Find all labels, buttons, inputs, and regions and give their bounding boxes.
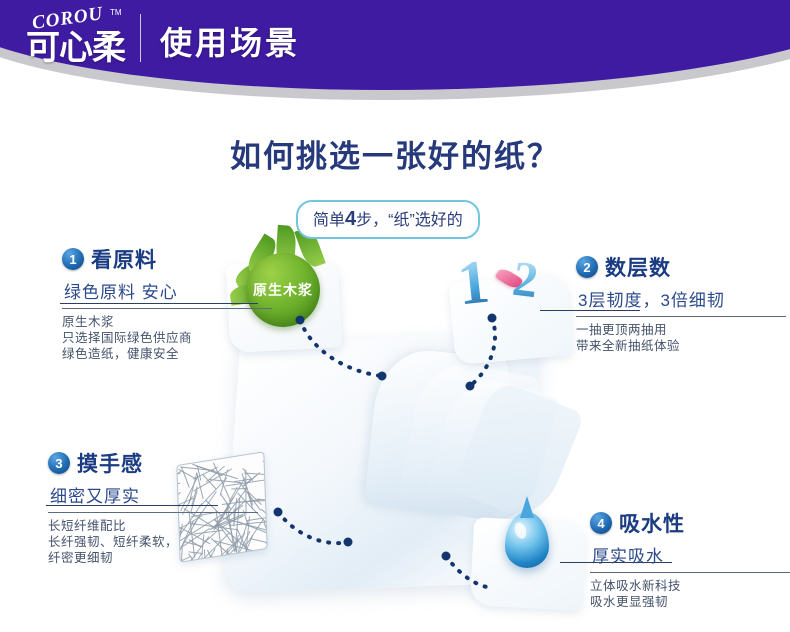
water-drop-icon — [505, 512, 549, 568]
tissue-sheet-right — [451, 378, 585, 525]
detail-line: 原生木浆 — [62, 314, 272, 330]
absorb-paper — [470, 517, 586, 611]
step-4-title: 吸水性 — [619, 508, 685, 538]
step-number-badge-2: 2 — [576, 256, 598, 278]
step-block-3: 3 摸手感 细密又厚实 长短纤维配比 长纤强韧、短纤柔软， 纤密更细韧 — [48, 448, 258, 566]
step-4-detail: 立体吸水新科技 吸水更显强韧 — [590, 578, 790, 610]
step-1-detail: 原生木浆 只选择国际绿色供应商 绿色造纸，健康安全 — [62, 314, 272, 362]
logo-chinese-text: 可心柔 — [26, 26, 125, 70]
pill-suffix: 步，“纸”选好的 — [356, 212, 463, 229]
step-number-badge-3: 3 — [48, 452, 70, 474]
step-2-subtitle: 3层韧度，3倍细韧 — [578, 286, 786, 311]
infographic-page: COROU TM 可心柔 使用场景 如何挑选一张好的纸？ 简单4步，“纸”选好的… — [0, 0, 790, 632]
step-2-title: 数层数 — [605, 252, 671, 282]
tissue-fold-3 — [423, 370, 560, 529]
brand-logo: COROU TM 可心柔 — [24, 6, 134, 78]
step-1-subtitle: 绿色原料 安心 — [64, 278, 272, 303]
fiber-strand — [263, 464, 267, 468]
fiber-strand — [263, 461, 268, 468]
step-2-rule — [576, 316, 786, 317]
page-title: 如何挑选一张好的纸？ — [0, 131, 790, 176]
pink-arrow-icon — [495, 266, 524, 291]
step-4-subtitle: 厚实吸水 — [592, 542, 790, 567]
fiber-strand — [265, 542, 267, 554]
step-1-title: 看原料 — [91, 244, 157, 274]
step-block-2: 2 数层数 3层韧度，3倍细韧 一抽更顶两抽用 带来全新抽纸体验 — [576, 252, 786, 354]
detail-line: 一抽更顶两抽用 — [576, 322, 786, 338]
fiber-strand — [261, 509, 267, 525]
step-4-heading: 4 吸水性 — [590, 508, 790, 538]
fiber-strand — [264, 522, 268, 537]
step-3-heading: 3 摸手感 — [48, 448, 258, 478]
step-block-1: 1 看原料 绿色原料 安心 原生木浆 只选择国际绿色供应商 绿色造纸，健康安全 — [62, 244, 272, 362]
step-2-heading: 2 数层数 — [576, 252, 786, 282]
step-3-rule — [48, 512, 258, 513]
header-divider — [140, 14, 141, 62]
page-header: COROU TM 可心柔 使用场景 — [0, 0, 790, 108]
detail-line: 纤密更细韧 — [48, 550, 258, 566]
tissue-sheet-main — [223, 333, 541, 593]
detail-line: 带来全新抽纸体验 — [576, 338, 786, 354]
layer-number-two: 2 — [510, 249, 542, 310]
detail-line: 长短纤维配比 — [48, 518, 258, 534]
detail-line: 吸水更显强韧 — [590, 594, 790, 610]
layer-number-one: 1 — [454, 247, 492, 321]
header-title: 使用场景 — [160, 18, 300, 64]
subtitle-pill: 简单4步，“纸”选好的 — [296, 200, 480, 239]
detail-line: 立体吸水新科技 — [590, 578, 790, 594]
detail-line: 绿色造纸，健康安全 — [62, 346, 272, 362]
step-4-rule — [590, 572, 790, 573]
logo-trademark-icon: TM — [110, 8, 122, 17]
fiber-strand — [257, 498, 268, 503]
detail-line: 只选择国际绿色供应商 — [62, 330, 272, 346]
step-3-title: 摸手感 — [77, 448, 143, 478]
leaf-icon — [275, 225, 297, 266]
step-number-badge-1: 1 — [62, 248, 84, 270]
pill-number: 4 — [345, 208, 356, 230]
step-1-heading: 1 看原料 — [62, 244, 272, 274]
pill-prefix: 简单 — [313, 212, 345, 229]
step-3-detail: 长短纤维配比 长纤强韧、短纤柔软， 纤密更细韧 — [48, 518, 258, 566]
tissue-fold-2 — [397, 356, 541, 526]
detail-line: 长纤强韧、短纤柔软， — [48, 534, 258, 550]
step-1-rule — [62, 308, 272, 309]
layers-paper — [449, 273, 574, 365]
step-block-4: 4 吸水性 厚实吸水 立体吸水新科技 吸水更显强韧 — [590, 508, 790, 610]
step-2-detail: 一抽更顶两抽用 带来全新抽纸体验 — [576, 322, 786, 354]
tissue-fold-1 — [364, 346, 510, 519]
step-number-badge-4: 4 — [590, 512, 612, 534]
step-3-subtitle: 细密又厚实 — [50, 482, 258, 507]
